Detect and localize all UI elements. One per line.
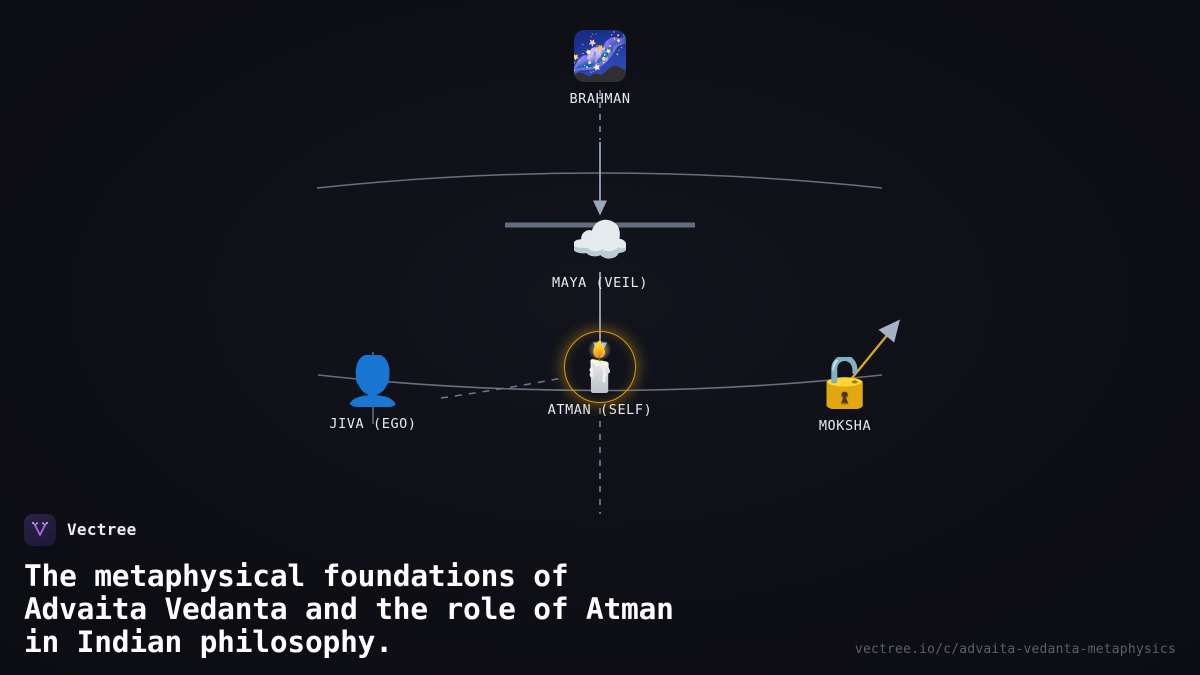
page-title: The metaphysical foundations of Advaita … — [24, 560, 854, 659]
node-brahman[interactable]: 🌌 BRAHMAN — [500, 30, 700, 107]
node-moksha-label: MOKSHA — [819, 418, 871, 434]
node-jiva[interactable]: 👤 JIVA (EGO) — [273, 355, 473, 432]
node-moksha-art: 🔓 — [819, 357, 871, 409]
screenshot-root: 🌌 BRAHMAN ☁️ MAYA (VEIL) 🕯️ ATMAN (SELF)… — [0, 0, 1200, 675]
node-moksha[interactable]: 🔓 MOKSHA — [745, 357, 945, 434]
brand[interactable]: Vectree — [24, 514, 1176, 546]
node-jiva-art: 👤 — [347, 355, 399, 407]
node-maya-art: ☁️ — [574, 214, 626, 266]
node-brahman-art: 🌌 — [574, 30, 626, 82]
milky-way-icon: 🌌 — [574, 30, 626, 82]
node-atman-art: 🕯️ — [574, 341, 626, 393]
node-jiva-label: JIVA (EGO) — [329, 416, 416, 432]
node-maya-label: MAYA (VEIL) — [552, 275, 648, 291]
cloud-icon: ☁️ — [574, 214, 626, 266]
vectree-logo-icon — [24, 514, 56, 546]
node-atman-label: ATMAN (SELF) — [548, 402, 653, 418]
node-brahman-label: BRAHMAN — [569, 91, 630, 107]
source-url: vectree.io/c/advaita-vedanta-metaphysics — [855, 642, 1176, 657]
node-atman[interactable]: 🕯️ ATMAN (SELF) — [500, 341, 700, 418]
brand-name: Vectree — [67, 520, 137, 539]
unlocked-padlock-icon: 🔓 — [819, 357, 871, 409]
person-bust-icon: 👤 — [347, 355, 399, 407]
node-maya[interactable]: ☁️ MAYA (VEIL) — [500, 214, 700, 291]
footer: Vectree The metaphysical foundations of … — [0, 514, 1200, 675]
candle-icon: 🕯️ — [574, 341, 626, 393]
